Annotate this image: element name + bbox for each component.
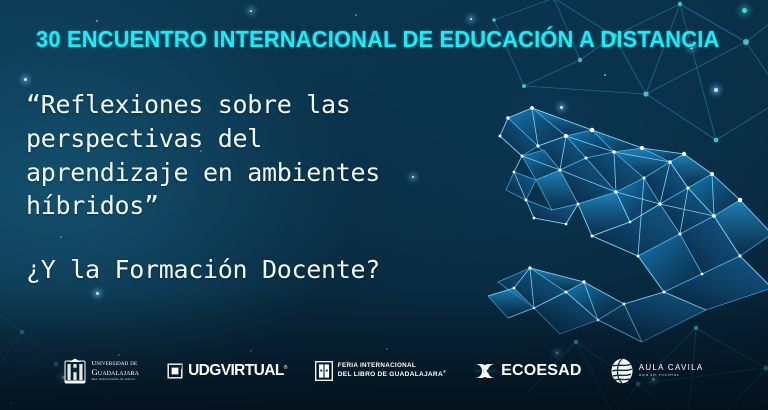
cavila-globe-icon xyxy=(610,358,634,384)
cavila-line-2: Aula sin fronteras xyxy=(639,374,704,378)
logo-universidad-de-guadalajara[interactable]: Universidad de Guadalajara Red Universit… xyxy=(64,358,139,384)
low-poly-hand-graphic xyxy=(474,96,768,346)
cavila-line-1: AULA CAVILA xyxy=(639,364,704,372)
logo-ecoesad[interactable]: ECOESAD xyxy=(474,362,582,380)
fil-book-icon xyxy=(315,361,333,381)
poster-canvas: 30 ENCUENTRO INTERNACIONAL DE EDUCACIÓN … xyxy=(0,0,768,410)
headline-line-4: híbridos” xyxy=(26,189,496,223)
udg-line-2: Guadalajara xyxy=(91,368,139,377)
subtitle-question: ¿Y la Formación Docente? xyxy=(26,253,506,287)
page-title: “Reflexiones sobre las perspectivas del … xyxy=(26,88,496,223)
udgvirtual-wordmark: UDGVIRTUAL® xyxy=(188,362,287,380)
fil-line-1: FERIA INTERNACIONAL xyxy=(338,363,446,370)
ecoesad-wordmark: ECOESAD xyxy=(501,362,582,380)
event-kicker-title: 30 ENCUENTRO INTERNACIONAL DE EDUCACIÓN … xyxy=(36,26,719,53)
fil-line-2-text: DEL LIBRO DE GUADALAJARA xyxy=(338,371,443,378)
udg-crest-icon xyxy=(64,358,86,384)
fil-line-2: DEL LIBRO DE GUADALAJARA® xyxy=(338,370,446,379)
sponsor-logo-bar: Universidad de Guadalajara Red Universit… xyxy=(0,346,768,396)
logo-aula-cavila[interactable]: AULA CAVILA Aula sin fronteras xyxy=(610,358,704,384)
ecoesad-mark-icon xyxy=(474,363,496,379)
fil-registered-mark: ® xyxy=(443,369,446,374)
udgvirtual-registered-mark: ® xyxy=(284,365,287,371)
logo-udgvirtual[interactable]: UDGVIRTUAL® xyxy=(167,362,287,380)
logo-fil-guadalajara[interactable]: FERIA INTERNACIONAL DEL LIBRO DE GUADALA… xyxy=(315,361,446,381)
udgvirtual-wordmark-text: UDGVIRTUAL xyxy=(188,362,284,379)
udg-line-3: Red Universitaria de Jalisco xyxy=(91,378,139,381)
headline-line-3: aprendizaje en ambientes xyxy=(26,156,496,190)
udgvirtual-square-icon xyxy=(167,363,183,379)
headline-line-2: perspectivas del xyxy=(26,122,496,156)
headline-line-1: “Reflexiones sobre las xyxy=(26,88,496,122)
